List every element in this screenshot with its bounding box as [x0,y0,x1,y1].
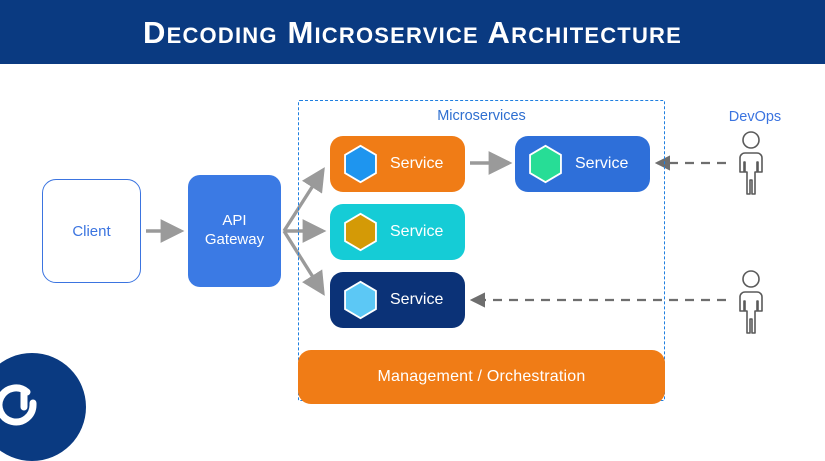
brand-logo-icon [0,383,40,429]
service-node-4[interactable]: Service [515,136,650,192]
management-orchestration-node[interactable]: Management / Orchestration [298,350,665,404]
microservices-group-label: Microservices [298,108,665,124]
person-icon [730,130,772,196]
service-label: Service [390,155,443,173]
api-gateway-node[interactable]: API Gateway [188,175,281,287]
brand-logo-badge [0,353,86,461]
page-title: Decoding Microservice Architecture [143,17,682,48]
api-gateway-label: API Gateway [205,212,264,250]
header-bar: Decoding Microservice Architecture [0,0,825,64]
client-node[interactable]: Client [42,179,141,283]
service-node-2[interactable]: Service [330,204,465,260]
hexagon-icon [342,144,379,184]
management-orchestration-label: Management / Orchestration [378,368,586,386]
service-node-3[interactable]: Service [330,272,465,328]
service-label: Service [390,223,443,241]
service-label: Service [390,291,443,309]
hexagon-icon [342,280,379,320]
service-node-1[interactable]: Service [330,136,465,192]
hexagon-icon [342,212,379,252]
architecture-diagram: Client API Gateway Microservices Service… [0,64,825,430]
devops-label: DevOps [690,109,820,125]
person-icon [730,269,772,335]
client-label: Client [72,223,110,240]
service-label: Service [575,155,628,173]
hexagon-icon [527,144,564,184]
